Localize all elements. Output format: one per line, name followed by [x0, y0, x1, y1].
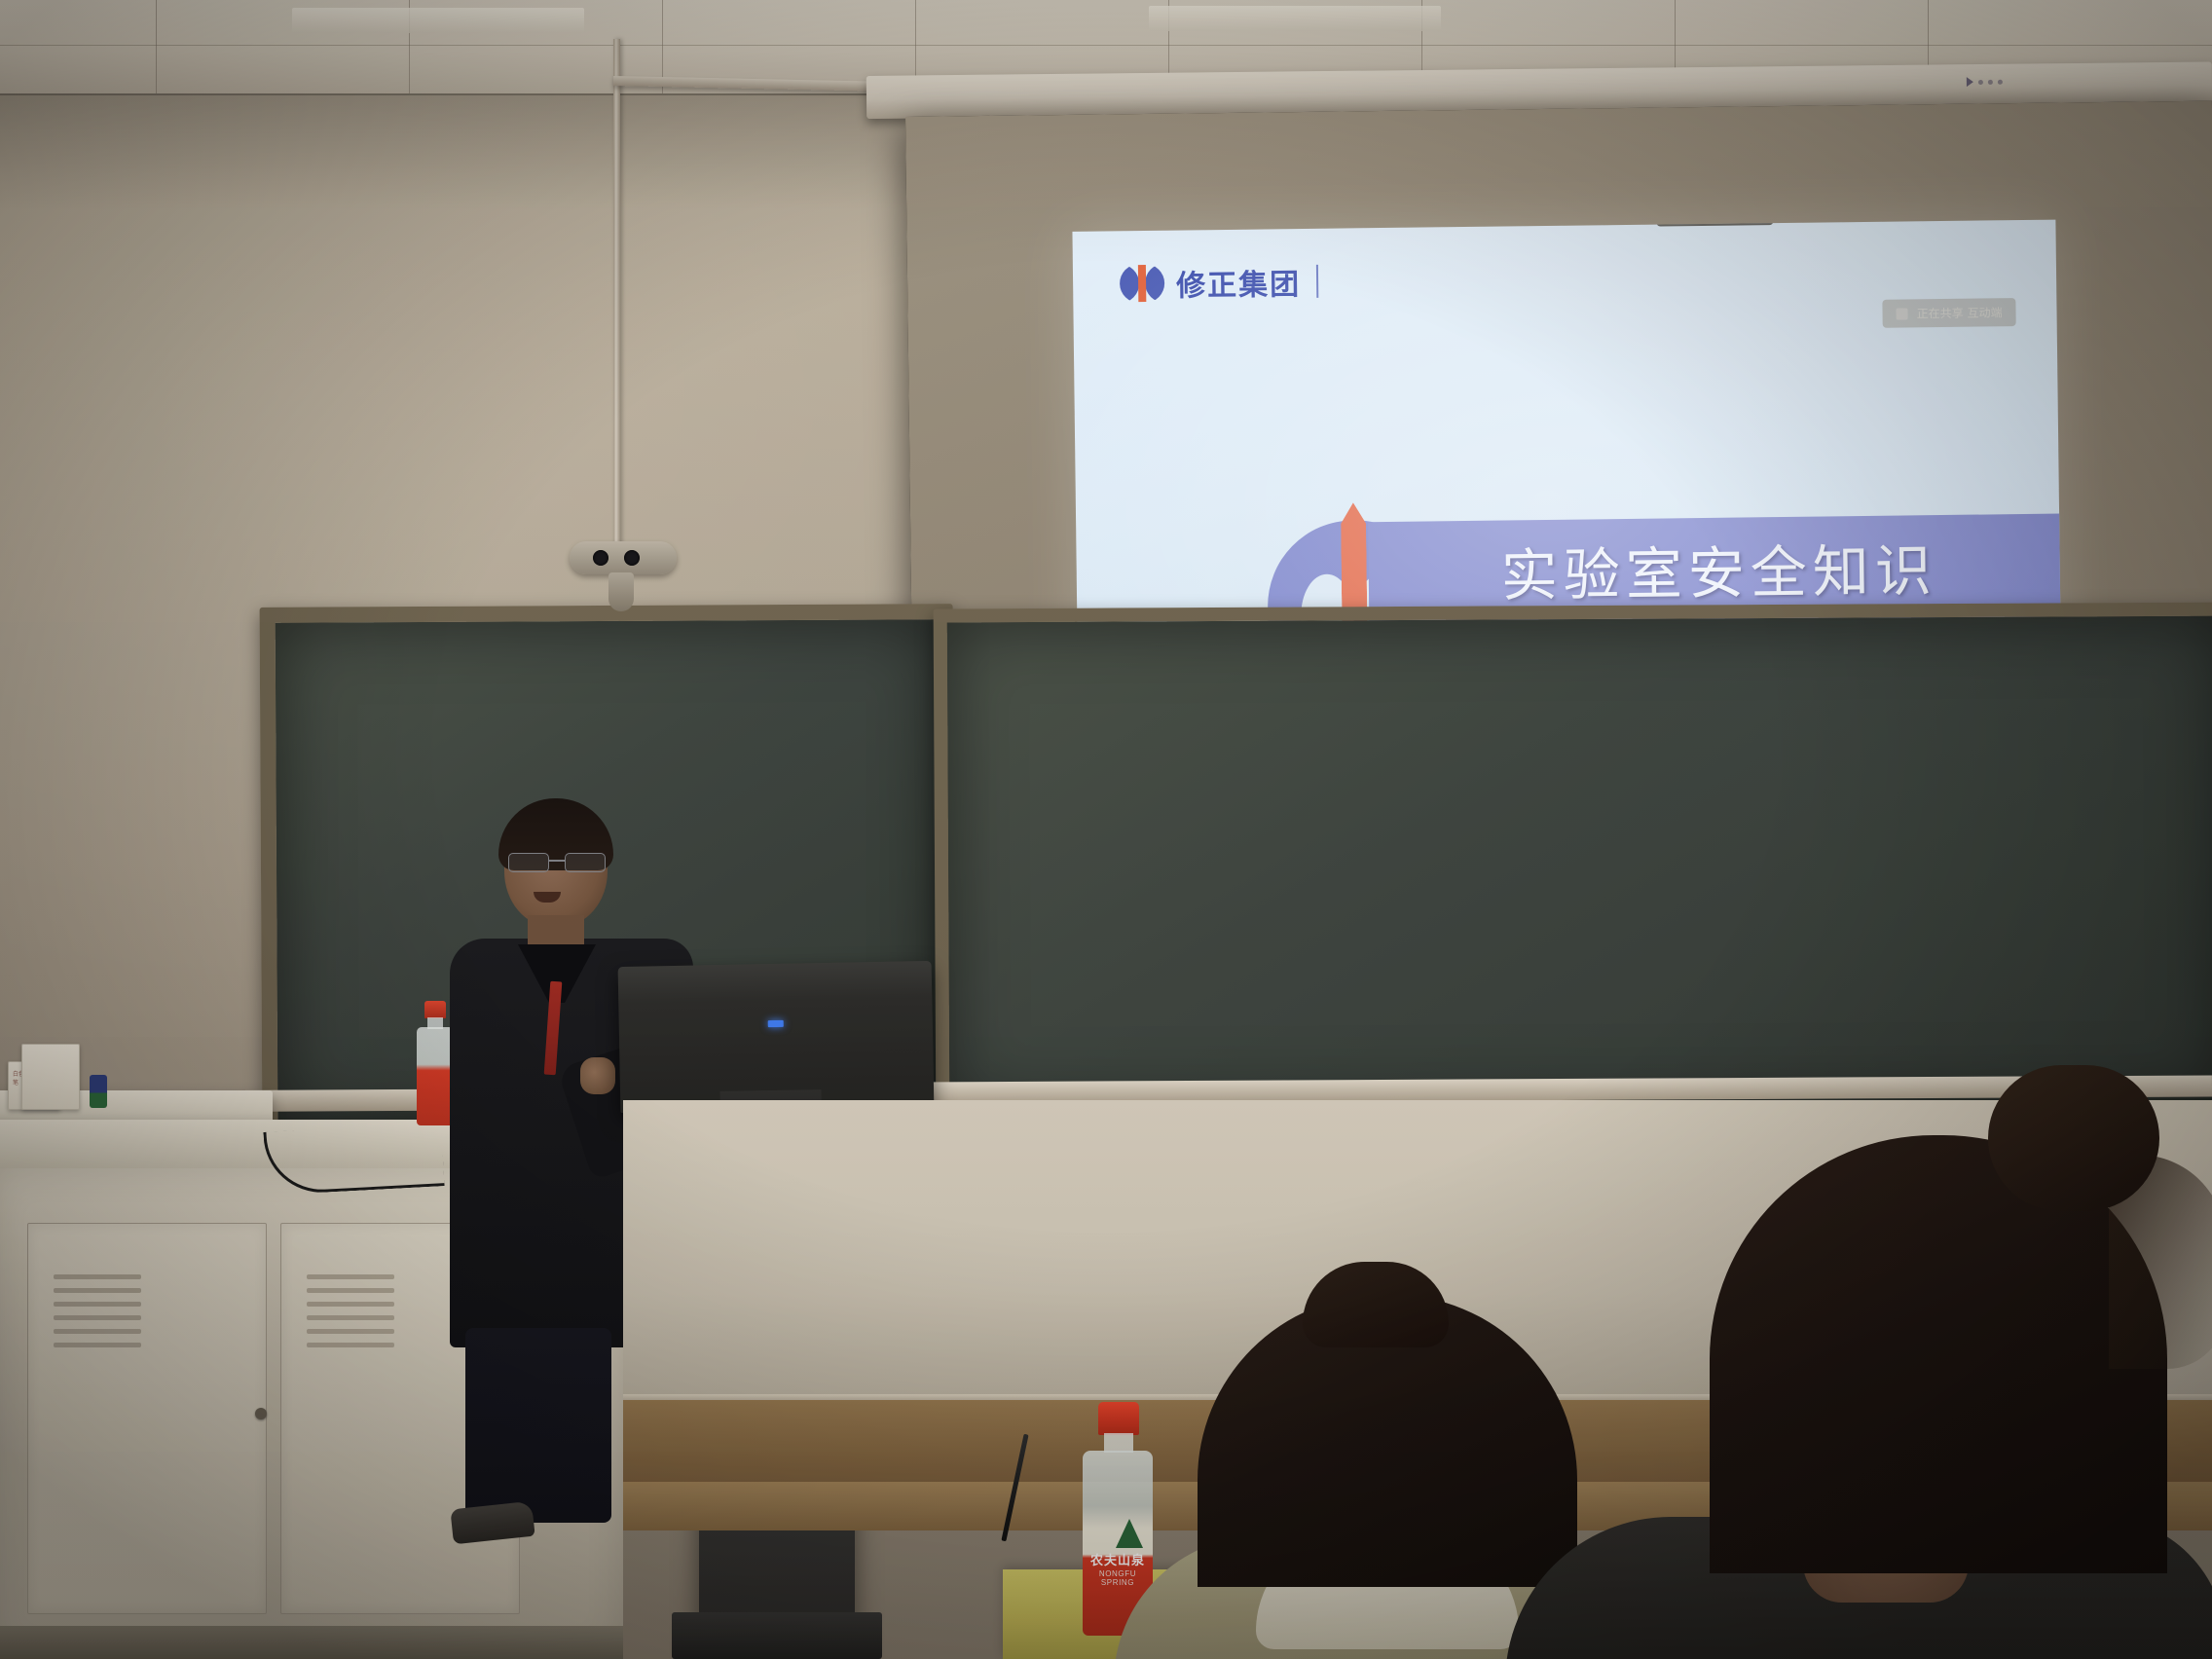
glasses-icon — [506, 853, 608, 870]
ceiling-conduit — [613, 39, 620, 584]
lectern-base — [672, 1612, 882, 1659]
ceiling-light — [1149, 6, 1441, 31]
chalk-box — [21, 1044, 80, 1110]
lecture-hall-photo: 修正集团 实验室安全知识 培 训 培训人：杨启家 修正药业集团 辽宁新高制药有限… — [0, 0, 2212, 1659]
mountain-logo-icon — [1116, 1519, 1143, 1548]
bottle-brand-en: NONGFU SPRING — [1083, 1569, 1153, 1587]
audience-member-right — [1710, 1135, 2212, 1659]
share-toolbar-pill[interactable]: 正在共享 互动端 — [1883, 298, 2016, 328]
xiuzheng-logo-icon — [1120, 264, 1164, 304]
water-bottle-on-desk — [417, 1001, 454, 1125]
cabinet-door-left[interactable] — [27, 1223, 267, 1614]
housing-brand-logo — [1967, 77, 2003, 87]
bottle-brand-cn: 农夫山泉 — [1083, 1550, 1153, 1568]
pin-icon — [1897, 308, 1908, 319]
text-cursor-icon — [1316, 265, 1318, 298]
ceiling-light — [292, 8, 584, 33]
power-led-icon — [768, 1020, 784, 1027]
wall-microphone-icon — [608, 572, 634, 611]
blackboard-right — [934, 602, 2212, 1123]
slide-title-line-1: 实验室安全知识 — [1500, 525, 1937, 611]
slide-corporate-logo: 修正集团 — [1120, 260, 1319, 305]
marker-pen — [90, 1075, 107, 1108]
audience-member-front — [1198, 1295, 1577, 1659]
cabinet-base — [0, 1626, 623, 1659]
slide-logo-text: 修正集团 — [1176, 260, 1302, 305]
cabinet-knob[interactable] — [255, 1408, 267, 1419]
wall-camera-icon — [570, 541, 677, 574]
hair-bun — [1988, 1065, 2159, 1211]
toolbar-pill-label: 正在共享 互动端 — [1917, 304, 2003, 321]
